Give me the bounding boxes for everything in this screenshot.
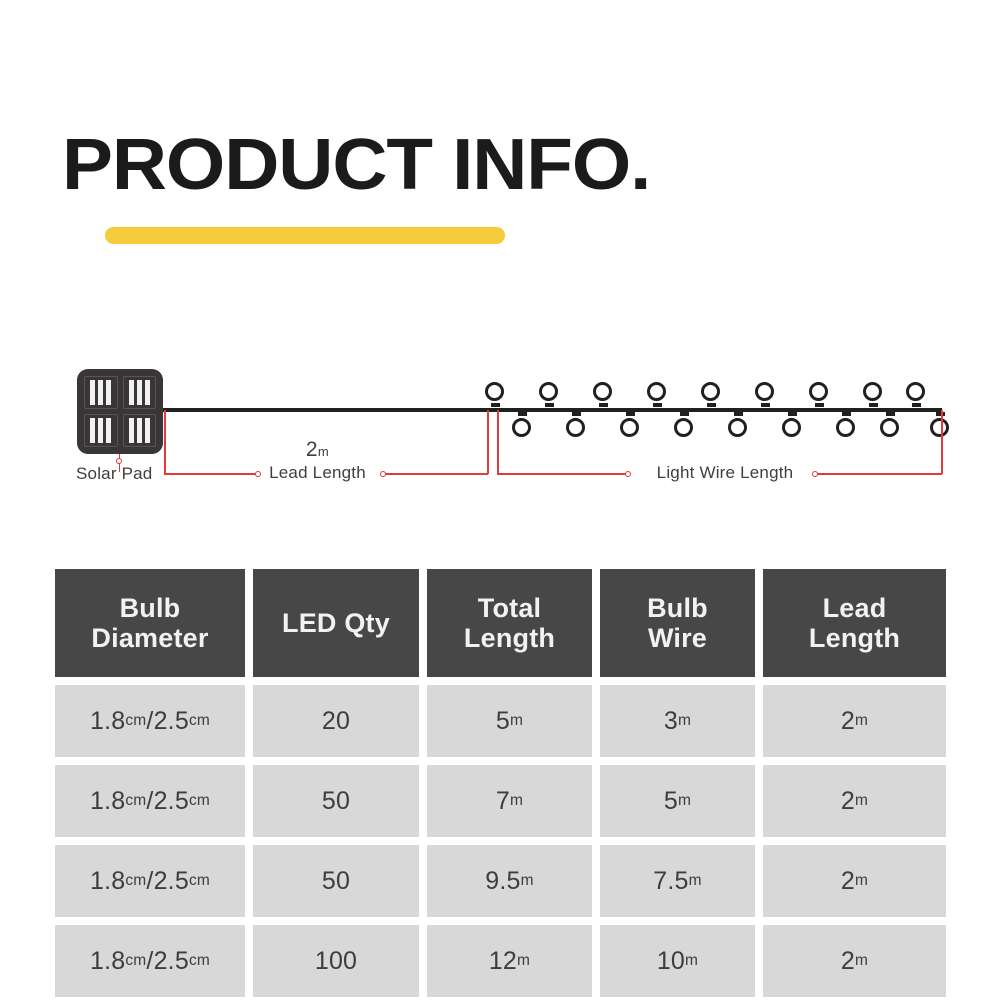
bulb-globe bbox=[620, 418, 639, 437]
lead-length-unit: m bbox=[855, 952, 868, 970]
bulb-globe bbox=[782, 418, 801, 437]
bulb-cap bbox=[815, 403, 824, 407]
bulb-wire-unit: m bbox=[678, 792, 691, 810]
header-line: Diameter bbox=[91, 623, 208, 653]
cell-lead-length: 2m bbox=[763, 685, 946, 757]
cell-bulb-diameter: 1.8cm/2.5cm bbox=[55, 685, 245, 757]
bulb-cap bbox=[761, 403, 770, 407]
bulb-up bbox=[647, 382, 667, 407]
diameter-u2: cm bbox=[189, 952, 210, 970]
bulb-globe bbox=[647, 382, 666, 401]
header-line: Length bbox=[464, 623, 555, 653]
lead-length-value: 2 bbox=[841, 947, 855, 976]
cell-total-length: 12m bbox=[427, 925, 592, 997]
diameter-u2: cm bbox=[189, 872, 210, 890]
cell-bulb-diameter: 1.8cm/2.5cm bbox=[55, 845, 245, 917]
bulb-globe bbox=[880, 418, 899, 437]
bulb-wire-unit: m bbox=[689, 872, 702, 890]
bulb-up bbox=[593, 382, 613, 407]
lead-length-value: 2 bbox=[841, 707, 855, 736]
lead-length-label: Lead Length bbox=[255, 463, 380, 483]
bulb-globe bbox=[809, 382, 828, 401]
table-row: 1.8cm/2.5cm 100 12m 10m 2m bbox=[55, 925, 946, 997]
cell-total-length: 5m bbox=[427, 685, 592, 757]
cell-led-qty: 100 bbox=[253, 925, 419, 997]
bulb-up bbox=[485, 382, 505, 407]
lead-bracket-right-rule bbox=[386, 473, 488, 475]
cell-led-qty: 50 bbox=[253, 765, 419, 837]
header-line: Bulb bbox=[91, 593, 208, 623]
diameter-v2: 2.5 bbox=[154, 787, 189, 816]
table-row: 1.8cm/2.5cm 50 9.5m 7.5m 2m bbox=[55, 845, 946, 917]
bulb-globe bbox=[485, 382, 504, 401]
solar-cell bbox=[123, 376, 157, 409]
bulb-down bbox=[674, 412, 694, 437]
total-length-unit: m bbox=[510, 792, 523, 810]
bulb-cap bbox=[886, 412, 895, 416]
header-line: Total bbox=[464, 593, 555, 623]
table-row: 1.8cm/2.5cm 20 5m 3m 2m bbox=[55, 685, 946, 757]
total-length-unit: m bbox=[517, 952, 530, 970]
bulb-up bbox=[809, 382, 829, 407]
lead-length-value: 2 bbox=[841, 867, 855, 896]
bulb-cap bbox=[626, 412, 635, 416]
bulb-globe bbox=[728, 418, 747, 437]
solar-cell-bar bbox=[129, 380, 134, 405]
header-line: Length bbox=[809, 623, 900, 653]
bulb-cap bbox=[491, 403, 500, 407]
light-bracket-right-rule bbox=[818, 473, 942, 475]
bulb-globe bbox=[906, 382, 925, 401]
diameter-sep: / bbox=[146, 947, 153, 976]
bulb-globe bbox=[836, 418, 855, 437]
solar-cell bbox=[123, 414, 157, 447]
lead-length-unit: m bbox=[855, 872, 868, 890]
lead-wire bbox=[163, 408, 488, 412]
diameter-u2: cm bbox=[189, 792, 210, 810]
bulb-globe bbox=[930, 418, 949, 437]
solar-cell-bar bbox=[129, 418, 134, 443]
diameter-sep: / bbox=[146, 867, 153, 896]
cell-total-length: 9.5m bbox=[427, 845, 592, 917]
diameter-u2: cm bbox=[189, 712, 210, 730]
total-length-value: 12 bbox=[489, 947, 517, 976]
cell-bulb-wire: 7.5m bbox=[600, 845, 755, 917]
bulb-wire-value: 7.5 bbox=[653, 867, 688, 896]
solar-cell-bar bbox=[106, 380, 111, 405]
cell-bulb-wire: 10m bbox=[600, 925, 755, 997]
bulb-globe bbox=[674, 418, 693, 437]
bulb-globe bbox=[566, 418, 585, 437]
diameter-v2: 2.5 bbox=[154, 947, 189, 976]
header-led-qty: LED Qty bbox=[253, 569, 419, 677]
bulb-down bbox=[836, 412, 856, 437]
solar-pad-icon bbox=[77, 369, 163, 454]
diameter-v1: 1.8 bbox=[90, 947, 125, 976]
bulb-wire-value: 3 bbox=[664, 707, 678, 736]
bulb-up bbox=[701, 382, 721, 407]
bulb-wire-value: 10 bbox=[657, 947, 685, 976]
bulb-down bbox=[880, 412, 900, 437]
cell-lead-length: 2m bbox=[763, 765, 946, 837]
bulb-globe bbox=[863, 382, 882, 401]
light-bracket-left-line bbox=[497, 410, 499, 474]
lead-bracket-left-line bbox=[164, 410, 166, 474]
spec-table: Bulb Diameter LED Qty Total Length Bulb … bbox=[55, 569, 946, 997]
total-length-value: 7 bbox=[496, 787, 510, 816]
solar-cell bbox=[84, 376, 118, 409]
bulb-globe bbox=[512, 418, 531, 437]
diameter-v1: 1.8 bbox=[90, 787, 125, 816]
bulb-globe bbox=[755, 382, 774, 401]
light-bracket-left-rule bbox=[497, 473, 628, 475]
cell-total-length: 7m bbox=[427, 765, 592, 837]
bulb-cap bbox=[653, 403, 662, 407]
bulb-down bbox=[782, 412, 802, 437]
cell-led-qty: 20 bbox=[253, 685, 419, 757]
bulb-cap bbox=[788, 412, 797, 416]
diameter-u1: cm bbox=[125, 712, 146, 730]
cell-bulb-wire: 3m bbox=[600, 685, 755, 757]
total-length-value: 9.5 bbox=[485, 867, 520, 896]
solar-cell bbox=[84, 414, 118, 447]
bulb-globe bbox=[593, 382, 612, 401]
bulb-cap bbox=[572, 412, 581, 416]
light-wire-length-label: Light Wire Length bbox=[645, 463, 805, 483]
diameter-sep: / bbox=[146, 707, 153, 736]
bulb-down bbox=[566, 412, 586, 437]
header-bulb-wire: Bulb Wire bbox=[600, 569, 755, 677]
lead-length-value: 2 bbox=[841, 787, 855, 816]
header-total-length: Total Length bbox=[427, 569, 592, 677]
header-line: Wire bbox=[647, 623, 708, 653]
solar-cell-bar bbox=[137, 418, 142, 443]
bulb-down bbox=[728, 412, 748, 437]
product-diagram: Solar Pad bbox=[0, 340, 1000, 510]
header-lead-length: Lead Length bbox=[763, 569, 946, 677]
solar-cell-bar bbox=[98, 418, 103, 443]
total-length-unit: m bbox=[510, 712, 523, 730]
bulb-cap bbox=[912, 403, 921, 407]
total-length-unit: m bbox=[521, 872, 534, 890]
header-line: LED Qty bbox=[282, 608, 390, 638]
header-bulb-diameter: Bulb Diameter bbox=[55, 569, 245, 677]
diameter-sep: / bbox=[146, 787, 153, 816]
lead-length-unit: m bbox=[855, 792, 868, 810]
table-row: 1.8cm/2.5cm 50 7m 5m 2m bbox=[55, 765, 946, 837]
bulb-down bbox=[930, 412, 950, 437]
bulb-up bbox=[863, 382, 883, 407]
solar-cell-bar bbox=[145, 380, 150, 405]
cell-led-qty: 50 bbox=[253, 845, 419, 917]
bulb-up bbox=[755, 382, 775, 407]
diameter-v1: 1.8 bbox=[90, 707, 125, 736]
cell-lead-length: 2m bbox=[763, 845, 946, 917]
solar-pad-label: Solar Pad bbox=[76, 464, 152, 484]
solar-cell-bar bbox=[98, 380, 103, 405]
bulb-cap bbox=[599, 403, 608, 407]
bulb-cap bbox=[936, 412, 945, 416]
lead-bracket-left-rule bbox=[164, 473, 259, 475]
light-bracket-right-line bbox=[941, 410, 943, 474]
diameter-v2: 2.5 bbox=[154, 707, 189, 736]
bulb-up bbox=[539, 382, 559, 407]
bulb-cap bbox=[518, 412, 527, 416]
cell-bulb-diameter: 1.8cm/2.5cm bbox=[55, 925, 245, 997]
bulb-wire-unit: m bbox=[678, 712, 691, 730]
bulb-cap bbox=[680, 412, 689, 416]
lead-bracket-right-line bbox=[487, 410, 489, 474]
total-length-value: 5 bbox=[496, 707, 510, 736]
diameter-u1: cm bbox=[125, 872, 146, 890]
cell-lead-length: 2m bbox=[763, 925, 946, 997]
cell-bulb-diameter: 1.8cm/2.5cm bbox=[55, 765, 245, 837]
title-underline-bar bbox=[105, 227, 505, 244]
bulb-cap bbox=[707, 403, 716, 407]
bulb-globe bbox=[701, 382, 720, 401]
table-header-row: Bulb Diameter LED Qty Total Length Bulb … bbox=[55, 569, 946, 677]
diameter-v2: 2.5 bbox=[154, 867, 189, 896]
bulb-cap bbox=[734, 412, 743, 416]
header-line: Bulb bbox=[647, 593, 708, 623]
solar-cell-bar bbox=[90, 380, 95, 405]
diameter-v1: 1.8 bbox=[90, 867, 125, 896]
bulb-wire-value: 5 bbox=[664, 787, 678, 816]
light-bracket-left-dot bbox=[625, 471, 631, 477]
bulb-cap bbox=[842, 412, 851, 416]
lead-length-unit: m bbox=[855, 712, 868, 730]
header-line: Lead bbox=[809, 593, 900, 623]
light-wire bbox=[488, 408, 942, 412]
solar-cell-bar bbox=[145, 418, 150, 443]
bulb-globe bbox=[539, 382, 558, 401]
solar-cell-bar bbox=[137, 380, 142, 405]
bulb-cap bbox=[869, 403, 878, 407]
bulb-down bbox=[512, 412, 532, 437]
cell-bulb-wire: 5m bbox=[600, 765, 755, 837]
bulb-cap bbox=[545, 403, 554, 407]
lead-length-value: 2m bbox=[265, 438, 370, 462]
bulb-up bbox=[906, 382, 926, 407]
bulb-down bbox=[620, 412, 640, 437]
diameter-u1: cm bbox=[125, 792, 146, 810]
bulb-wire-unit: m bbox=[685, 952, 698, 970]
solar-cell-bar bbox=[90, 418, 95, 443]
solar-cell-bar bbox=[106, 418, 111, 443]
lead-length-number: 2 bbox=[306, 438, 318, 461]
diameter-u1: cm bbox=[125, 952, 146, 970]
lead-length-unit: m bbox=[318, 444, 329, 459]
page-title: PRODUCT INFO. bbox=[62, 129, 650, 201]
